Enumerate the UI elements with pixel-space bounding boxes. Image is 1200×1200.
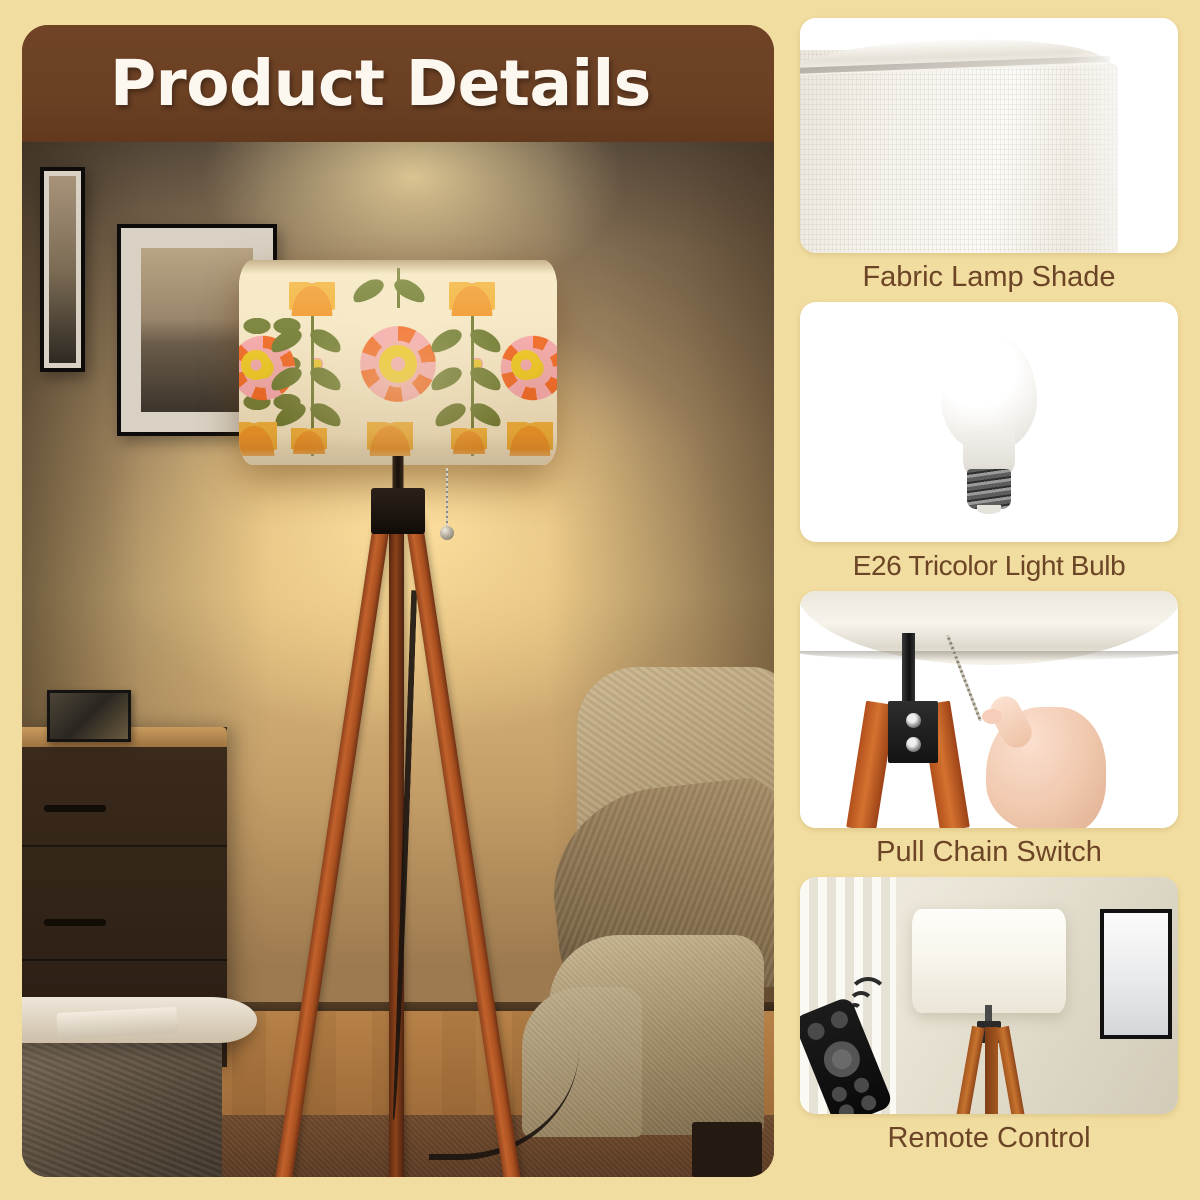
picture-image (49, 176, 76, 363)
bulb-e26-base (967, 469, 1011, 509)
bulb-icon (941, 333, 1037, 511)
leaf (433, 406, 467, 423)
tripod-hub (371, 488, 425, 534)
white-lamp-shade (912, 909, 1066, 1013)
tripod-floor-lamp (233, 260, 563, 465)
spacer (800, 581, 1178, 591)
feature-list: Fabric Lamp Shade E26 Tricolor Light Bul… (800, 18, 1178, 1182)
pull-chain-switch-thumbnail[interactable] (800, 591, 1178, 828)
leaf (309, 332, 343, 349)
fabric-lamp-shade-thumbnail[interactable] (800, 18, 1178, 253)
feature-pull-chain-switch[interactable]: Pull Chain Switch (800, 591, 1178, 867)
dresser-divider (22, 959, 227, 961)
framed-wall-art (1100, 909, 1172, 1039)
dresser-handle (44, 805, 106, 812)
chain-knob (440, 526, 454, 540)
wall-art-image (1104, 913, 1168, 1035)
sofa-foot (692, 1122, 762, 1177)
feature-label-remote-control: Remote Control (800, 1114, 1178, 1153)
feature-fabric-lamp-shade[interactable]: Fabric Lamp Shade (800, 18, 1178, 292)
main-product-photo (22, 142, 774, 1177)
flower-core (241, 350, 271, 380)
leaf (429, 370, 463, 387)
feature-label-pull-chain-switch: Pull Chain Switch (800, 828, 1178, 867)
leaf (469, 332, 503, 349)
knit-throw-blanket (22, 1027, 222, 1177)
bulb-tip (977, 505, 1001, 514)
pull-chain (440, 468, 454, 540)
feature-label-e26-tricolor-light-bulb: E26 Tricolor Light Bulb (800, 542, 1178, 580)
feature-e26-tricolor-light-bulb[interactable]: E26 Tricolor Light Bulb (800, 302, 1178, 580)
picture-mat (44, 171, 81, 368)
floral-lamp-shade (239, 260, 557, 465)
infographic-page: Product Details (0, 0, 1200, 1200)
leaf (351, 282, 385, 299)
leaf (469, 370, 503, 387)
dresser-divider (22, 845, 227, 847)
leaf (269, 370, 303, 387)
leaf (469, 406, 503, 423)
screw-icon (906, 737, 921, 752)
feature-remote-control[interactable]: Remote Control (800, 877, 1178, 1153)
spacer (800, 292, 1178, 302)
flower-core (511, 350, 541, 380)
fingernail (982, 709, 1002, 724)
framed-picture-left (40, 167, 85, 372)
light-bulb-thumbnail[interactable] (800, 302, 1178, 542)
feature-label-fabric-lamp-shade: Fabric Lamp Shade (800, 253, 1178, 292)
white-fade-overlay (1068, 18, 1178, 253)
title-banner: Product Details (22, 25, 774, 142)
leaf (309, 406, 343, 423)
leaf (269, 332, 303, 349)
switch-housing (888, 701, 938, 763)
leaf (273, 406, 307, 423)
lamp-rod (902, 633, 915, 705)
remote-control-thumbnail[interactable] (800, 877, 1178, 1114)
desk-photo-frame (47, 690, 131, 742)
spacer (800, 867, 1178, 877)
dresser-handle (44, 919, 106, 926)
leaf (309, 370, 343, 387)
tripod-leg-back (985, 1027, 998, 1114)
shade-top-rim (239, 260, 557, 274)
leaf (429, 332, 463, 349)
page-title: Product Details (110, 47, 651, 120)
picture-image (50, 693, 128, 739)
leaf (393, 282, 427, 299)
flower-core (379, 345, 417, 383)
main-product-panel: Product Details (22, 25, 774, 1177)
chain-cord (446, 468, 448, 526)
screw-icon (906, 713, 921, 728)
